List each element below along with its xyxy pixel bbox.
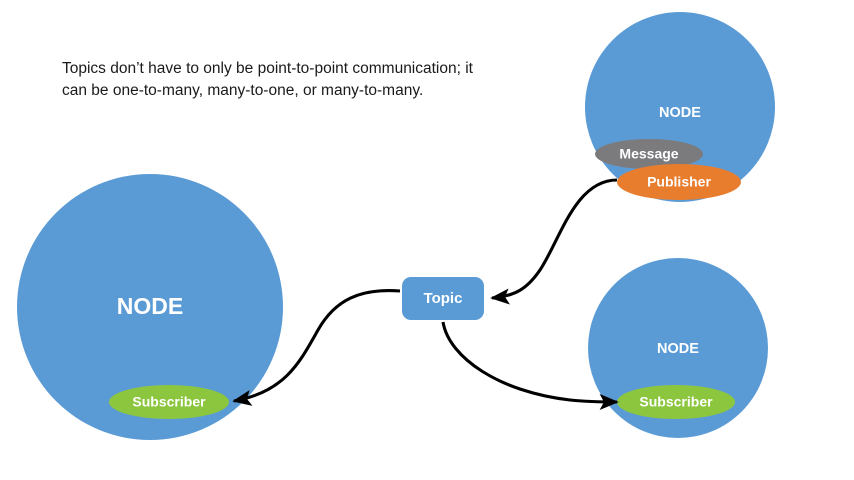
message-label: Message	[619, 146, 678, 162]
subscriber-label: Subscriber	[132, 394, 206, 410]
ros-topic-diagram: NODE Subscriber NODE Message Publisher	[0, 0, 854, 480]
subscriber-node-right[interactable]: NODE Subscriber	[588, 258, 768, 438]
topic-box[interactable]: Topic	[402, 277, 484, 320]
subscriber-pill-right[interactable]: Subscriber	[617, 385, 735, 419]
topic-label: Topic	[424, 290, 463, 307]
publisher-pill[interactable]: Publisher	[617, 164, 741, 200]
subscriber-label: Subscriber	[639, 394, 713, 410]
diagram-canvas: Topics don’t have to only be point-to-po…	[0, 0, 854, 480]
arrow-publisher-to-topic	[492, 180, 617, 298]
node-label: NODE	[659, 105, 701, 121]
publisher-label: Publisher	[647, 174, 711, 190]
node-label: NODE	[117, 293, 183, 319]
publisher-node[interactable]: NODE Message Publisher	[585, 12, 775, 202]
subscriber-pill-left[interactable]: Subscriber	[109, 385, 229, 419]
node-label: NODE	[657, 341, 699, 357]
